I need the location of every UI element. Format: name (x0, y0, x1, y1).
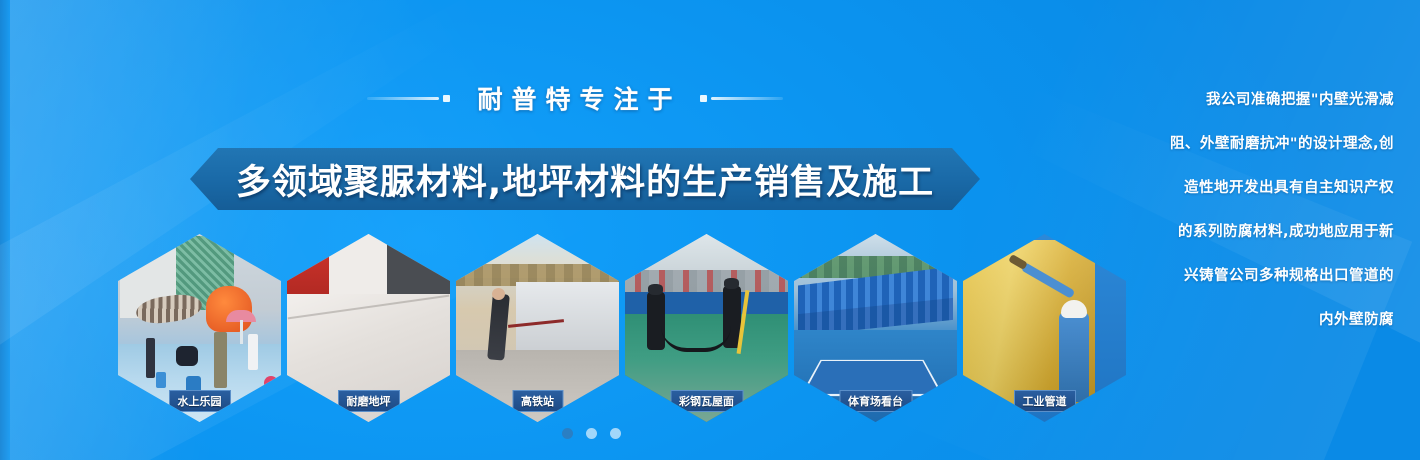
carousel-dot-3[interactable] (610, 428, 621, 439)
headline-plate: 多领域聚脲材料,地坪材料的生产销售及施工 (190, 148, 980, 210)
decorative-dot (443, 95, 450, 102)
gallery-caption: 彩钢瓦屋面 (670, 390, 743, 412)
gallery-caption: 水上乐园 (169, 390, 231, 412)
side-description-line: 阻、外壁耐磨抗冲"的设计理念,创 (1164, 122, 1394, 166)
decorative-dot (700, 95, 707, 102)
decorative-line-left (367, 95, 450, 102)
gallery-item-water-park[interactable]: 水上乐园 (118, 234, 281, 422)
side-description-line: 的系列防腐材料,成功地应用于新 (1164, 210, 1394, 254)
gallery-item-industrial-pipeline[interactable]: 工业管道 (963, 234, 1126, 422)
application-gallery: 水上乐园 耐磨地坪 高铁站 彩钢瓦屋面 (118, 232, 1128, 424)
side-description-line: 内外壁防腐 (1164, 298, 1394, 342)
left-edge-accent (0, 0, 10, 460)
gallery-item-stadium-grandstand[interactable]: 体育场看台 (794, 234, 957, 422)
gallery-caption: 工业管道 (1014, 390, 1076, 412)
gallery-caption: 高铁站 (512, 390, 563, 412)
side-description: 我公司准确把握"内壁光滑减 阻、外壁耐磨抗冲"的设计理念,创 造性地开发出具有自… (1164, 78, 1394, 342)
side-description-line: 兴铸管公司多种规格出口管道的 (1164, 254, 1394, 298)
headline-title: 多领域聚脲材料,地坪材料的生产销售及施工 (236, 154, 934, 205)
carousel-dots[interactable] (562, 428, 621, 439)
carousel-dot-2[interactable] (586, 428, 597, 439)
decorative-line-right (700, 95, 783, 102)
carousel-dot-1[interactable] (562, 428, 573, 439)
gallery-caption: 体育场看台 (839, 390, 912, 412)
gallery-caption: 耐磨地坪 (338, 390, 400, 412)
side-description-line: 造性地开发出具有自主知识产权 (1164, 166, 1394, 210)
eyebrow-text: 耐普特专注于 (468, 80, 681, 116)
gallery-item-colored-steel-tile-roof[interactable]: 彩钢瓦屋面 (625, 234, 788, 422)
hero-banner: 耐普特专注于 多领域聚脲材料,地坪材料的生产销售及施工 我公司准确把握"内壁光滑… (0, 0, 1420, 460)
gallery-item-wear-resistant-floor[interactable]: 耐磨地坪 (287, 234, 450, 422)
decorative-bar (711, 97, 783, 100)
gallery-item-high-speed-rail-station[interactable]: 高铁站 (456, 234, 619, 422)
side-description-line: 我公司准确把握"内壁光滑减 (1164, 78, 1394, 122)
eyebrow-headline-row: 耐普特专注于 (0, 80, 1150, 116)
decorative-bar (367, 97, 439, 100)
